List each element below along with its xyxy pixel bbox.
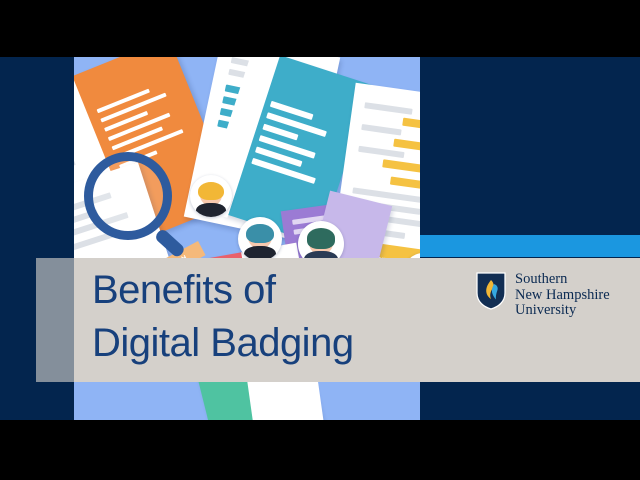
letterbox-bar-top [0, 0, 640, 57]
presentation-slide: RESUME RESUME RESUME [0, 57, 640, 420]
magnifying-glass-icon [84, 152, 188, 256]
magnifier-lens [84, 152, 172, 240]
shield-icon [476, 272, 506, 310]
avatar-orange-doc [190, 175, 232, 217]
avatar-teal-doc [238, 217, 282, 261]
snhu-logo: Southern New Hampshire University [476, 272, 610, 319]
snhu-wordmark: Southern New Hampshire University [515, 272, 610, 319]
magnifier-handle [154, 228, 186, 259]
banner-overlay-left [36, 258, 74, 382]
page-title: Benefits of Digital Badging [92, 264, 492, 370]
accent-band [420, 235, 640, 257]
video-player-frame: RESUME RESUME RESUME [0, 0, 640, 480]
title-banner: Benefits of Digital Badging Southern New… [36, 258, 640, 382]
letterbox-bar-bottom [0, 420, 640, 480]
